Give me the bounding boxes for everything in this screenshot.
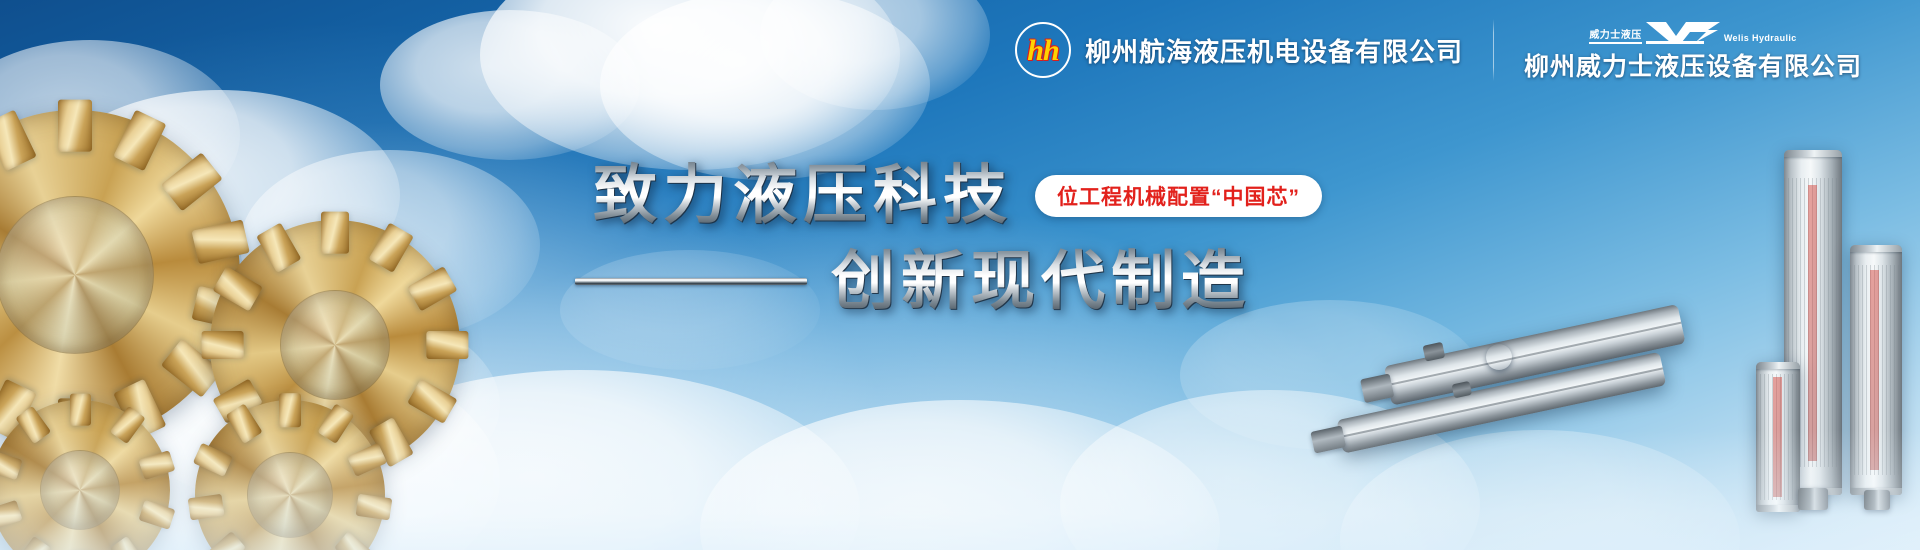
cloud-shape: [480, 0, 900, 170]
filter-stripe: [1773, 377, 1782, 497]
gear-bore: [247, 452, 333, 538]
filter-end-cap: [1756, 505, 1800, 512]
gear-tooth: [138, 450, 175, 480]
filter-stripe: [1870, 270, 1879, 470]
cloud-shape: [0, 40, 240, 230]
gear-tooth: [58, 398, 92, 450]
gear-decoration-group: [0, 70, 600, 550]
gear-tooth: [58, 100, 92, 152]
company-name-hanghai: 柳州航海液压机电设备有限公司: [1085, 32, 1463, 69]
gear-tooth: [113, 110, 166, 172]
gear-bore: [40, 450, 120, 530]
gear-small-icon: [195, 400, 385, 550]
gear-tooth: [356, 494, 393, 521]
promo-banner: hh 柳州航海液压机电设备有限公司 威力士液压 Welis Hydraulic: [0, 0, 1920, 550]
gear-tooth: [193, 443, 233, 477]
gear-tooth: [256, 222, 301, 272]
ws-wings-glyph: [1646, 20, 1720, 44]
cloud-shape: [1340, 430, 1740, 550]
gear-tooth: [15, 536, 51, 550]
gear-tooth: [347, 443, 387, 477]
cloud-shape: [120, 300, 500, 510]
gear-tooth: [369, 222, 414, 272]
gear-tooth: [188, 494, 225, 521]
bottom-haze-overlay: [0, 430, 1920, 550]
filter-end-cap: [1850, 245, 1902, 252]
logo-bar: hh 柳州航海液压机电设备有限公司 威力士液压 Welis Hydraulic: [985, 0, 1920, 100]
filter-base-cap: [1864, 490, 1890, 510]
gear-tooth: [212, 266, 262, 311]
filter-end-cap: [1784, 150, 1842, 157]
ws-mark-cn-text: 威力士液压: [1589, 26, 1642, 44]
filter-stripe: [1808, 185, 1817, 461]
cloud-shape: [300, 370, 860, 550]
gear-tooth: [0, 110, 37, 172]
hh-circle-logo-icon: hh: [1015, 22, 1071, 78]
gear-tooth: [279, 393, 301, 427]
gear-tooth: [317, 403, 354, 443]
welis-logo-group: 威力士液压 Welis Hydraulic 柳州威力士液压设备有限公司: [1524, 18, 1862, 83]
gear-tiny-icon: [0, 400, 170, 550]
gear-body: [210, 220, 460, 470]
gear-tooth: [407, 266, 457, 311]
gear-tooth: [0, 379, 37, 441]
gear-tooth: [113, 379, 166, 441]
cloud-shape: [1060, 390, 1480, 550]
gear-tooth: [202, 331, 244, 359]
cloud-shape: [760, 0, 990, 110]
gear-tooth: [369, 417, 414, 467]
slogan-line-2: 创新现代制造: [831, 246, 1251, 318]
logo-block-welis[interactable]: 威力士液压 Welis Hydraulic 柳州威力士液压设备有限公司: [1494, 14, 1892, 86]
gear-medium-icon: [210, 220, 460, 470]
company-name-welis: 柳州威力士液压设备有限公司: [1524, 47, 1862, 83]
cloud-shape: [240, 150, 540, 340]
cloud-shape: [700, 400, 1220, 550]
gear-body: [195, 400, 385, 550]
gear-tooth: [206, 531, 246, 550]
gear-tooth: [109, 536, 145, 550]
gear-tooth: [192, 286, 250, 331]
ws-wings-logo-icon: 威力士液压 Welis Hydraulic: [1589, 18, 1796, 44]
gear-tooth: [109, 406, 145, 444]
gear-tooth: [192, 219, 250, 264]
gear-tooth: [0, 500, 22, 530]
gear-tooth: [212, 379, 262, 424]
cylinder-rod-end: [1360, 373, 1394, 403]
slogan-row-one: 致力液压科技 位工程机械配置“中国芯”: [593, 160, 1575, 232]
filter-end-cap: [1850, 488, 1902, 495]
gear-tooth: [321, 212, 349, 254]
gear-tooth: [321, 436, 349, 478]
gear-tooth: [426, 331, 468, 359]
gear-bore: [280, 290, 390, 400]
gear-tooth: [226, 403, 263, 443]
filter-end-cap: [1756, 362, 1800, 369]
gear-tooth: [0, 450, 22, 480]
gear-tooth: [161, 152, 223, 211]
hydraulic-cylinder-lower: [1336, 352, 1666, 454]
gear-tooth: [70, 394, 91, 426]
cylinder-seam: [1340, 367, 1663, 438]
filter-cartridge-medium: [1850, 245, 1902, 495]
cylinder-rod-end: [1310, 425, 1346, 453]
gear-body: [0, 110, 240, 440]
filter-end-cap: [1784, 488, 1842, 495]
logo-block-hanghai[interactable]: hh 柳州航海液压机电设备有限公司: [985, 14, 1493, 86]
slogan-block: 致力液压科技 位工程机械配置“中国芯” 创新现代制造: [575, 160, 1575, 360]
cloud-shape: [380, 10, 640, 160]
slogan-badge: 位工程机械配置“中国芯”: [1035, 175, 1322, 217]
gear-body: [0, 400, 170, 550]
cloud-shape: [40, 90, 400, 300]
filter-cartridge-short: [1756, 362, 1800, 512]
cloud-shape: [0, 330, 500, 550]
metallic-divider-rule: [575, 278, 807, 285]
cylinder-port: [1452, 381, 1473, 398]
gear-tooth: [138, 500, 175, 530]
gear-tooth: [15, 406, 51, 444]
ws-mark-en-text: Welis Hydraulic: [1724, 33, 1797, 44]
hh-monogram-text: hh: [1027, 36, 1058, 66]
gear-large-icon: [0, 110, 240, 440]
gear-tooth: [334, 531, 374, 550]
cloud-shape: [600, 0, 930, 180]
slogan-badge-text: 位工程机械配置“中国芯”: [1057, 181, 1300, 211]
filter-cartridge-tall: [1784, 150, 1842, 495]
gear-tooth: [161, 339, 223, 398]
slogan-line-1: 致力液压科技: [593, 160, 1013, 232]
gear-bore: [0, 196, 154, 354]
filter-base-cap: [1798, 488, 1828, 510]
gear-tooth: [256, 417, 301, 467]
gear-tooth: [407, 379, 457, 424]
slogan-row-two: 创新现代制造: [575, 246, 1575, 318]
